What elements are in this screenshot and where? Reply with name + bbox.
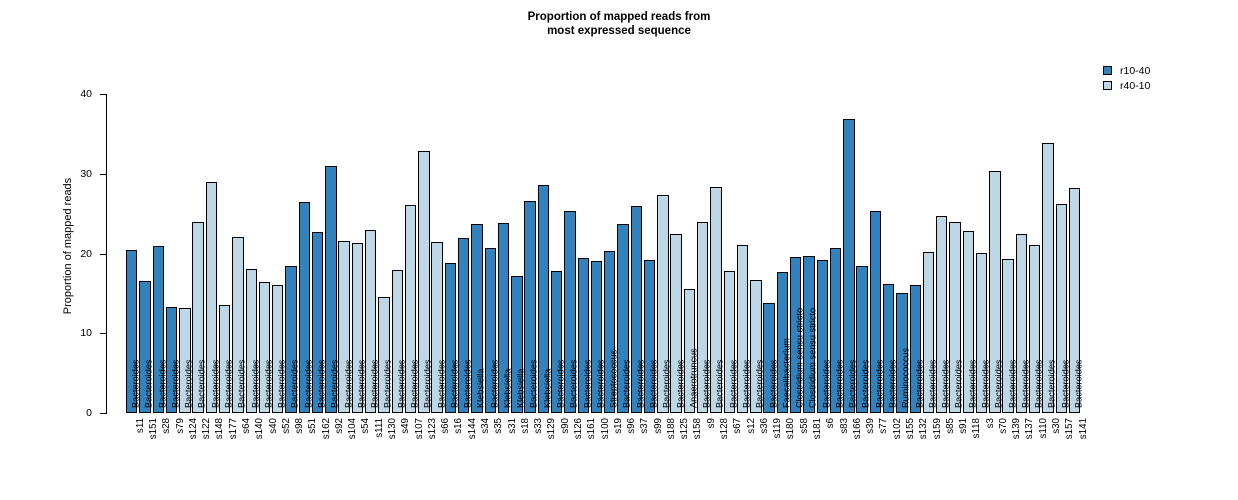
bar[interactable]: Streptococcus bbox=[604, 251, 615, 413]
x-axis-tick-label: s67 bbox=[733, 418, 742, 434]
bar[interactable]: Klebsiella bbox=[471, 224, 482, 413]
bar[interactable]: Bacteroides bbox=[299, 202, 310, 413]
x-axis-tick-label: s111 bbox=[375, 418, 384, 438]
x-axis-tick-label: s92 bbox=[335, 418, 344, 434]
x-axis-tick-label: s155 bbox=[906, 418, 915, 439]
bar[interactable]: Bacteroides bbox=[378, 297, 389, 413]
bar[interactable]: Bacteroides bbox=[830, 248, 841, 413]
bar[interactable]: Bacteroides bbox=[989, 171, 1000, 413]
x-axis-tick-label: s177 bbox=[229, 418, 238, 439]
x-axis-tick-label: s166 bbox=[853, 418, 862, 439]
bar[interactable]: Bacteroides bbox=[617, 224, 628, 413]
x-axis-tick-label: s54 bbox=[361, 418, 370, 434]
bar[interactable]: Bacteroides bbox=[312, 232, 323, 413]
bar[interactable]: Bacteroides bbox=[232, 237, 243, 413]
x-axis-tick-label: s128 bbox=[720, 418, 729, 439]
bar[interactable]: Clostridium sensu stricto bbox=[803, 256, 814, 413]
bar[interactable]: Bacteroides bbox=[259, 282, 270, 413]
bar[interactable]: Bacteroides bbox=[564, 211, 575, 413]
x-axis-tick-label: s98 bbox=[295, 418, 304, 434]
x-axis-tick-label: s36 bbox=[760, 418, 769, 434]
bar[interactable]: Bacteroides bbox=[139, 281, 150, 413]
bar[interactable]: Bacteroides bbox=[817, 260, 828, 413]
x-axis-tick-label: s129 bbox=[547, 418, 556, 439]
x-axis-tick-label: s39 bbox=[866, 418, 875, 434]
bar[interactable]: Bacteroides bbox=[405, 205, 416, 413]
bar[interactable]: Bacteroides bbox=[750, 280, 761, 413]
x-axis-tick-label: s85 bbox=[946, 418, 955, 434]
x-axis-tick-label: s122 bbox=[202, 418, 211, 439]
x-axis-tick-label: s34 bbox=[481, 418, 490, 434]
x-axis-tick-label: s157 bbox=[1065, 418, 1074, 439]
bar[interactable]: Bacteroides bbox=[126, 250, 137, 413]
x-axis-tick-label: s141 bbox=[1079, 418, 1088, 439]
bar[interactable]: Bacteroides bbox=[724, 271, 735, 413]
x-axis-tick-label: s100 bbox=[601, 418, 610, 439]
bar[interactable]: Anaerotruncus bbox=[684, 289, 695, 413]
bar[interactable]: Bacteroides bbox=[445, 263, 456, 413]
x-axis-tick-label: s99 bbox=[654, 418, 663, 434]
bar[interactable]: Bacteroides bbox=[219, 305, 230, 413]
x-axis-tick-label: s18 bbox=[521, 418, 530, 434]
x-axis-tick-label: s107 bbox=[415, 418, 424, 439]
bar[interactable]: Bacteroides bbox=[365, 230, 376, 413]
bar[interactable]: Klebsiella bbox=[498, 223, 509, 413]
x-axis-tick-label: s35 bbox=[494, 418, 503, 434]
x-axis-tick-label: s139 bbox=[1012, 418, 1021, 439]
bar[interactable]: Ruminococcus bbox=[896, 293, 907, 413]
bar[interactable]: Bacteroides bbox=[697, 222, 708, 413]
x-axis-tick-label: s49 bbox=[401, 418, 410, 434]
bar[interactable]: Bacteroides bbox=[631, 206, 642, 413]
x-axis-tick-label: s12 bbox=[747, 418, 756, 434]
x-axis-tick-label: s151 bbox=[149, 418, 158, 439]
bar[interactable]: Bacteroides bbox=[246, 269, 257, 413]
x-axis-tick-label: s159 bbox=[933, 418, 942, 439]
x-axis-tick-label: s130 bbox=[388, 418, 397, 439]
x-axis-tick-label: s162 bbox=[322, 418, 331, 439]
x-axis-tick-label: s125 bbox=[680, 418, 689, 439]
x-axis-tick-label: s51 bbox=[308, 418, 317, 434]
chart-root: Proportion of mapped reads from most exp… bbox=[0, 0, 1238, 500]
bar[interactable]: Bacteroides bbox=[578, 258, 589, 414]
x-axis-tick-label: s40 bbox=[269, 418, 278, 434]
x-axis-tick-label: s6 bbox=[826, 418, 835, 428]
bar[interactable]: Bacteroides bbox=[910, 285, 921, 413]
bar[interactable]: Bacteroides bbox=[737, 245, 748, 413]
bar[interactable]: Clostridium sensu stricto bbox=[790, 257, 801, 413]
bar[interactable]: Bacteroides bbox=[936, 216, 947, 413]
bar[interactable]: Bacteroides bbox=[976, 253, 987, 413]
x-axis-tick-label: s161 bbox=[587, 418, 596, 439]
x-axis-tick-label: s3 bbox=[986, 418, 995, 428]
x-axis-tick-label: s77 bbox=[879, 418, 888, 434]
x-axis-tick-label: s148 bbox=[215, 418, 224, 439]
bar[interactable]: Bacteroides bbox=[843, 119, 854, 413]
bar[interactable]: Bacteroides bbox=[166, 307, 177, 413]
x-axis-tick-label: s31 bbox=[508, 418, 517, 434]
bar[interactable]: Bacteroides bbox=[670, 234, 681, 413]
bar[interactable]: Bacteroides bbox=[1016, 234, 1027, 413]
x-axis-tick-label: s104 bbox=[348, 418, 357, 439]
x-axis-tick-label: s102 bbox=[893, 418, 902, 439]
bar[interactable]: Bacteroides bbox=[192, 222, 203, 413]
bar[interactable]: Bacteroides bbox=[883, 284, 894, 413]
x-axis-tick-label: s140 bbox=[255, 418, 264, 439]
bar[interactable]: Bacteroides bbox=[949, 222, 960, 413]
x-axis-tick-label: s144 bbox=[468, 418, 477, 439]
x-axis-tick-label: s30 bbox=[1052, 418, 1061, 434]
x-axis-tick-label: s64 bbox=[242, 418, 251, 434]
bar[interactable]: Klebsiella bbox=[538, 185, 549, 413]
x-axis-tick-label: s9 bbox=[707, 418, 716, 428]
bar[interactable]: Bacteroides bbox=[418, 151, 429, 413]
bar[interactable]: Bacteroides bbox=[963, 231, 974, 413]
bar[interactable]: Bacteroides bbox=[870, 211, 881, 413]
bar[interactable]: Bacteroides bbox=[856, 266, 867, 413]
bar[interactable]: Bacteroides bbox=[338, 241, 349, 413]
bar[interactable]: Bacteroides bbox=[153, 246, 164, 413]
bar[interactable]: Bacteroides bbox=[1002, 259, 1013, 413]
bar[interactable]: Klebsiella bbox=[511, 276, 522, 413]
bar[interactable]: Bacteroides bbox=[272, 285, 283, 413]
bar[interactable]: Bacteroides bbox=[763, 303, 774, 413]
bar[interactable]: Bacteroides bbox=[551, 271, 562, 413]
bar-genus-label: Bacteroides bbox=[1074, 359, 1083, 408]
bar[interactable]: Bacteroides bbox=[1042, 143, 1053, 413]
x-axis-tick-label: s181 bbox=[813, 418, 822, 439]
bar[interactable]: Bacteroides bbox=[1069, 188, 1080, 413]
x-axis-tick-label: s52 bbox=[282, 418, 291, 434]
bar[interactable]: Bacteroides bbox=[431, 242, 442, 413]
bar[interactable]: Bacteroides bbox=[710, 187, 721, 413]
bar[interactable]: Bacteroides bbox=[285, 266, 296, 413]
bar[interactable]: Faecalibacterium bbox=[777, 272, 788, 413]
x-axis-tick-label: s11 bbox=[136, 418, 145, 433]
x-axis-tick-label: s90 bbox=[561, 418, 570, 434]
bar[interactable]: Bacteroides bbox=[657, 195, 668, 413]
bar[interactable]: Bacteroides bbox=[352, 243, 363, 413]
bar[interactable]: Bacteroides bbox=[644, 260, 655, 413]
x-axis-tick-label: s70 bbox=[999, 418, 1008, 434]
x-axis-tick-label: s123 bbox=[428, 418, 437, 439]
x-axis-tick-label: s83 bbox=[840, 418, 849, 434]
x-axis-tick-label: s96 bbox=[627, 418, 636, 434]
bar[interactable]: Bacteroides bbox=[1029, 245, 1040, 413]
bar[interactable]: Bacteroides bbox=[458, 238, 469, 413]
bar[interactable]: Bacteroides bbox=[1056, 204, 1067, 413]
x-axis-tick-label: s110 bbox=[1039, 418, 1048, 439]
x-axis-tick-label: s28 bbox=[162, 418, 171, 434]
bar[interactable]: Bacteroides bbox=[179, 308, 190, 413]
plot-area: 010203040 Proportion of mapped reads Bac… bbox=[0, 0, 1238, 500]
x-axis-tick-label: s91 bbox=[959, 418, 968, 434]
bar[interactable]: Bacteroides bbox=[591, 261, 602, 413]
x-axis-tick-label: s132 bbox=[919, 418, 928, 439]
x-axis-tick-label: s19 bbox=[614, 418, 623, 434]
x-axis-tick-label: s124 bbox=[189, 418, 198, 439]
bar[interactable]: Bacteroides bbox=[392, 270, 403, 413]
bar[interactable]: Bacteroides bbox=[923, 252, 934, 413]
bar[interactable]: Bacteroides bbox=[524, 201, 535, 413]
bar[interactable]: Bacteroides bbox=[206, 182, 217, 413]
x-axis-tick-label: s16 bbox=[454, 418, 463, 434]
x-axis-tick-label: s126 bbox=[574, 418, 583, 439]
x-axis-tick-label: s66 bbox=[441, 418, 450, 434]
x-axis-tick-label: s118 bbox=[972, 418, 981, 439]
x-axis-tick-label: s37 bbox=[640, 418, 649, 434]
x-axis-tick-label: s158 bbox=[693, 418, 702, 439]
x-axis-tick-label: s188 bbox=[667, 418, 676, 439]
x-axis-tick-label: s58 bbox=[800, 418, 809, 434]
x-axis-tick-label: s33 bbox=[534, 418, 543, 434]
x-axis-tick-label: s79 bbox=[176, 418, 185, 434]
bar[interactable]: Bacteroides bbox=[485, 248, 496, 413]
x-axis-tick-label: s180 bbox=[786, 418, 795, 439]
x-axis-tick-label: s137 bbox=[1025, 418, 1034, 439]
x-axis-tick-label: s119 bbox=[773, 418, 782, 439]
bar[interactable]: Bacteroides bbox=[325, 166, 336, 413]
